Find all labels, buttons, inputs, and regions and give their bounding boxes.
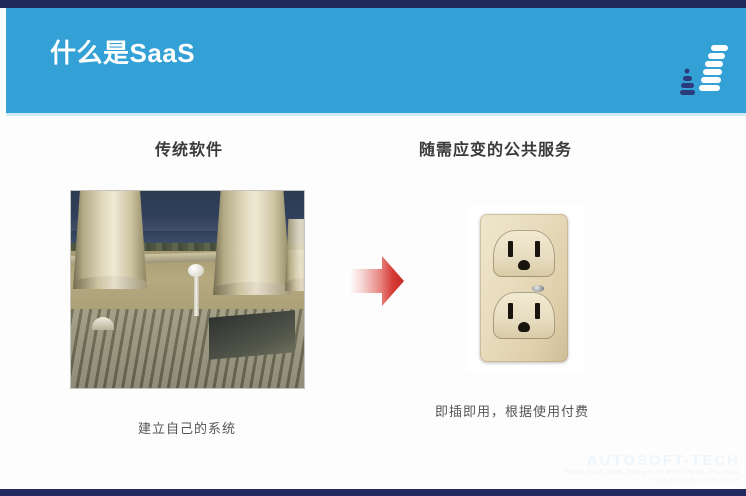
- left-column-caption: 建立自己的系统: [138, 418, 236, 437]
- outlet-ground-hole-top: [518, 260, 530, 270]
- photo-cooling-tower-left: [73, 191, 147, 289]
- photo-water-tower: [188, 264, 204, 277]
- top-rail: [0, 0, 746, 8]
- company-address-en: Room 2612, 2588, Zhongshan North Road, S…: [564, 469, 740, 476]
- right-column-heading: 随需应变的公共服务: [419, 136, 572, 160]
- outlet-neutral-slot-bottom: [508, 303, 513, 319]
- company-address-cn: 上海市中山北路2588号2612室: [564, 477, 740, 484]
- photo-dark-building: [209, 310, 295, 360]
- autosoft-stair-logo-icon: [680, 44, 738, 100]
- outlet-hot-slot-top: [535, 241, 540, 257]
- outlet-hot-slot-bottom: [535, 303, 540, 319]
- photo-cooling-tower-right: [213, 191, 291, 295]
- outlet-neutral-slot-top: [508, 241, 513, 257]
- outlet-wall-plate: [480, 214, 568, 362]
- company-name: AUTOSOFT-TECH: [564, 452, 740, 469]
- footer-branding: AUTOSOFT-TECH Room 2612, 2588, Zhongshan…: [564, 452, 740, 484]
- outlet-socket-top: [493, 230, 555, 277]
- slide: 什么是SaaS 传统软件 随需应变的公共服务: [0, 0, 746, 496]
- header-band: 什么是SaaS: [6, 8, 746, 113]
- right-arrow-icon: [349, 256, 404, 306]
- nuclear-power-plant-photo: [71, 191, 304, 388]
- left-column-heading: 传统软件: [155, 136, 223, 160]
- header-underline: [6, 113, 746, 116]
- photo-cooling-tower-far: [285, 219, 304, 291]
- outlet-socket-bottom: [493, 292, 555, 339]
- outlet-ground-hole-bottom: [518, 322, 530, 332]
- right-column-caption: 即插即用，根据使用付费: [435, 401, 589, 420]
- outlet-center-screw: [532, 285, 544, 292]
- page-title: 什么是SaaS: [50, 36, 195, 70]
- bottom-rail: [0, 489, 746, 496]
- electrical-outlet-photo: [466, 206, 584, 373]
